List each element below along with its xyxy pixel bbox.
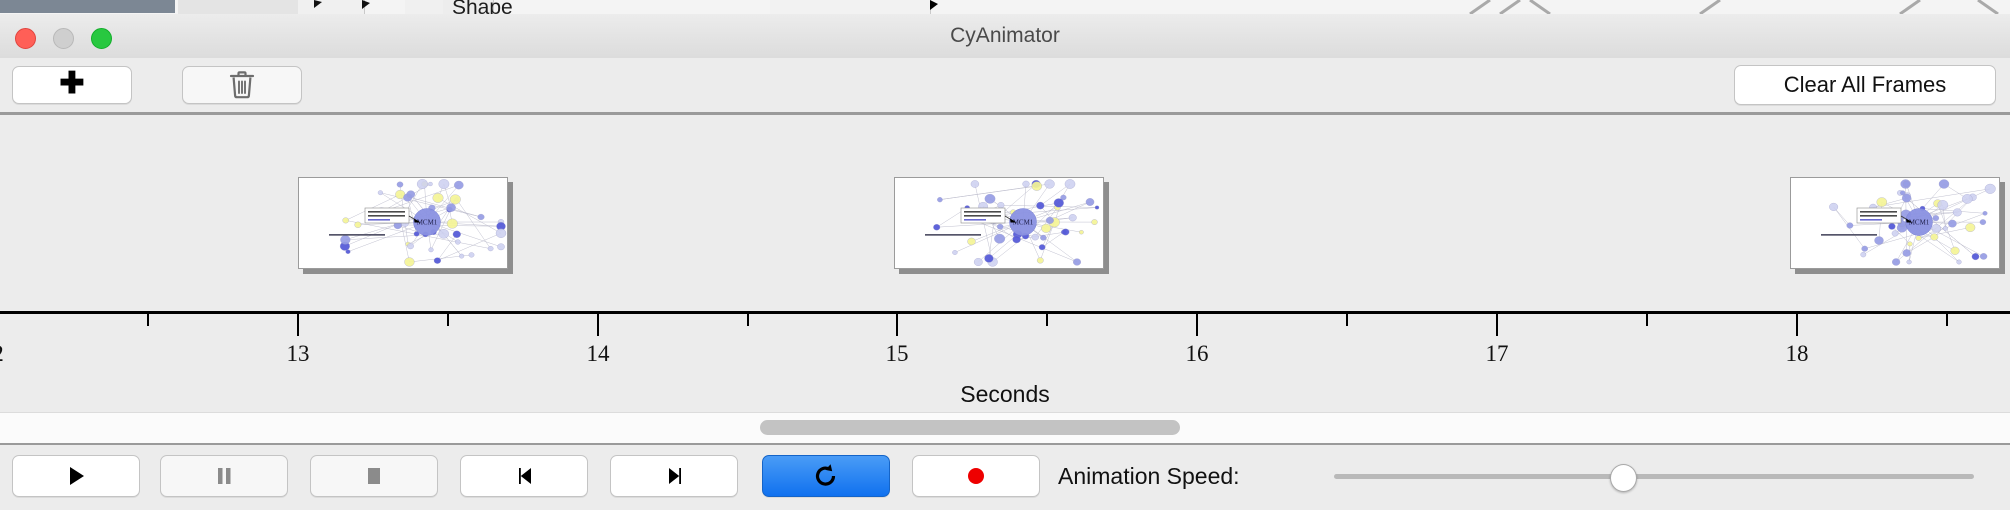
loop-icon [811,461,841,491]
keyframe-shadow [508,182,513,274]
axis-tick-major [297,314,299,336]
playback-bar: Animation Speed: [0,445,2010,510]
plus-icon: ✚ [59,69,84,99]
skip-end-button[interactable] [610,455,738,497]
title-bar: CyAnimator [0,14,2010,59]
axis-tick-minor [1346,314,1348,326]
pause-button[interactable] [160,455,288,497]
window-title: CyAnimator [0,14,2010,58]
background-shape-label: Shape [452,0,513,15]
axis-title: Seconds [0,381,2010,408]
keyframe-thumbnail[interactable]: MCM1 [1790,177,2000,269]
svg-text:MCM1: MCM1 [417,219,438,227]
loop-button[interactable] [762,455,890,497]
animation-speed-slider[interactable] [1334,455,1974,497]
axis-tick-major [1796,314,1798,336]
stop-button[interactable] [310,455,438,497]
keyframe-network-view: MCM1 [298,177,508,269]
keyframe-shadow [1104,182,1109,274]
keyframe-network-view: MCM1 [894,177,1104,269]
stop-icon [359,461,389,491]
skip-forward-icon [659,461,689,491]
trash-icon [229,70,255,100]
timeline-scrollbar[interactable] [0,412,2010,446]
keyframe-shadow [303,269,513,274]
keyframe-shadow [2000,182,2005,274]
axis-tick-major [1496,314,1498,336]
timeline-panel[interactable]: MCM1MCM1MCM1 2131415161718 Seconds [0,115,2010,412]
axis-tick-minor [1646,314,1648,326]
slider-thumb[interactable] [1610,464,1637,492]
toolbar: ✚ Clear All Frames [0,58,2010,115]
add-frame-button[interactable]: ✚ [12,66,132,104]
play-icon [61,461,91,491]
keyframe-network-view: MCM1 [1790,177,2000,269]
skip-start-button[interactable] [460,455,588,497]
axis-tick-label: 18 [1756,341,1838,367]
animation-speed-label: Animation Speed: [1058,455,1240,497]
axis-tick-minor [747,314,749,326]
axis-tick-label: 13 [257,341,339,367]
keyframe-thumbnail[interactable]: MCM1 [298,177,508,269]
svg-text:MCM1: MCM1 [1013,219,1034,227]
background-caret-icon-2 [360,0,386,14]
keyframe-thumbnail[interactable]: MCM1 [894,177,1104,269]
axis-tick-minor [1946,314,1948,326]
record-button[interactable] [912,455,1040,497]
axis-tick-label: 15 [856,341,938,367]
background-diagonal-lines [1430,0,2010,14]
delete-frame-button[interactable] [182,66,302,104]
time-axis: 2131415161718 Seconds [0,311,2010,412]
background-toolbar-dark [0,0,175,13]
record-icon [961,461,991,491]
keyframe-strip[interactable]: MCM1MCM1MCM1 [0,115,2010,315]
skip-back-icon [509,461,539,491]
axis-tick-major [597,314,599,336]
axis-tick-label: 17 [1456,341,1538,367]
svg-text:MCM1: MCM1 [1909,219,1930,227]
background-pointer-icon [920,0,960,14]
axis-baseline [0,311,2010,314]
slider-track [1334,474,1974,479]
keyframe-shadow [1795,269,2005,274]
background-window-strip: Shape [0,0,2010,15]
axis-tick-minor [447,314,449,326]
axis-tick-label: 2 [0,341,39,367]
clear-all-frames-label: Clear All Frames [1784,72,1947,98]
clear-all-frames-button[interactable]: Clear All Frames [1734,65,1996,105]
axis-tick-major [896,314,898,336]
play-button[interactable] [12,455,140,497]
keyframe-shadow [899,269,1109,274]
background-caret-icon [310,0,336,14]
axis-tick-label: 14 [557,341,639,367]
axis-tick-minor [147,314,149,326]
cyanimator-window: Shape CyAnimator ✚ [0,0,2010,510]
axis-tick-major [1196,314,1198,336]
axis-tick-minor [1046,314,1048,326]
axis-tick-label: 16 [1156,341,1238,367]
pause-icon [209,461,239,491]
timeline-scrollbar-thumb[interactable] [760,420,1180,435]
